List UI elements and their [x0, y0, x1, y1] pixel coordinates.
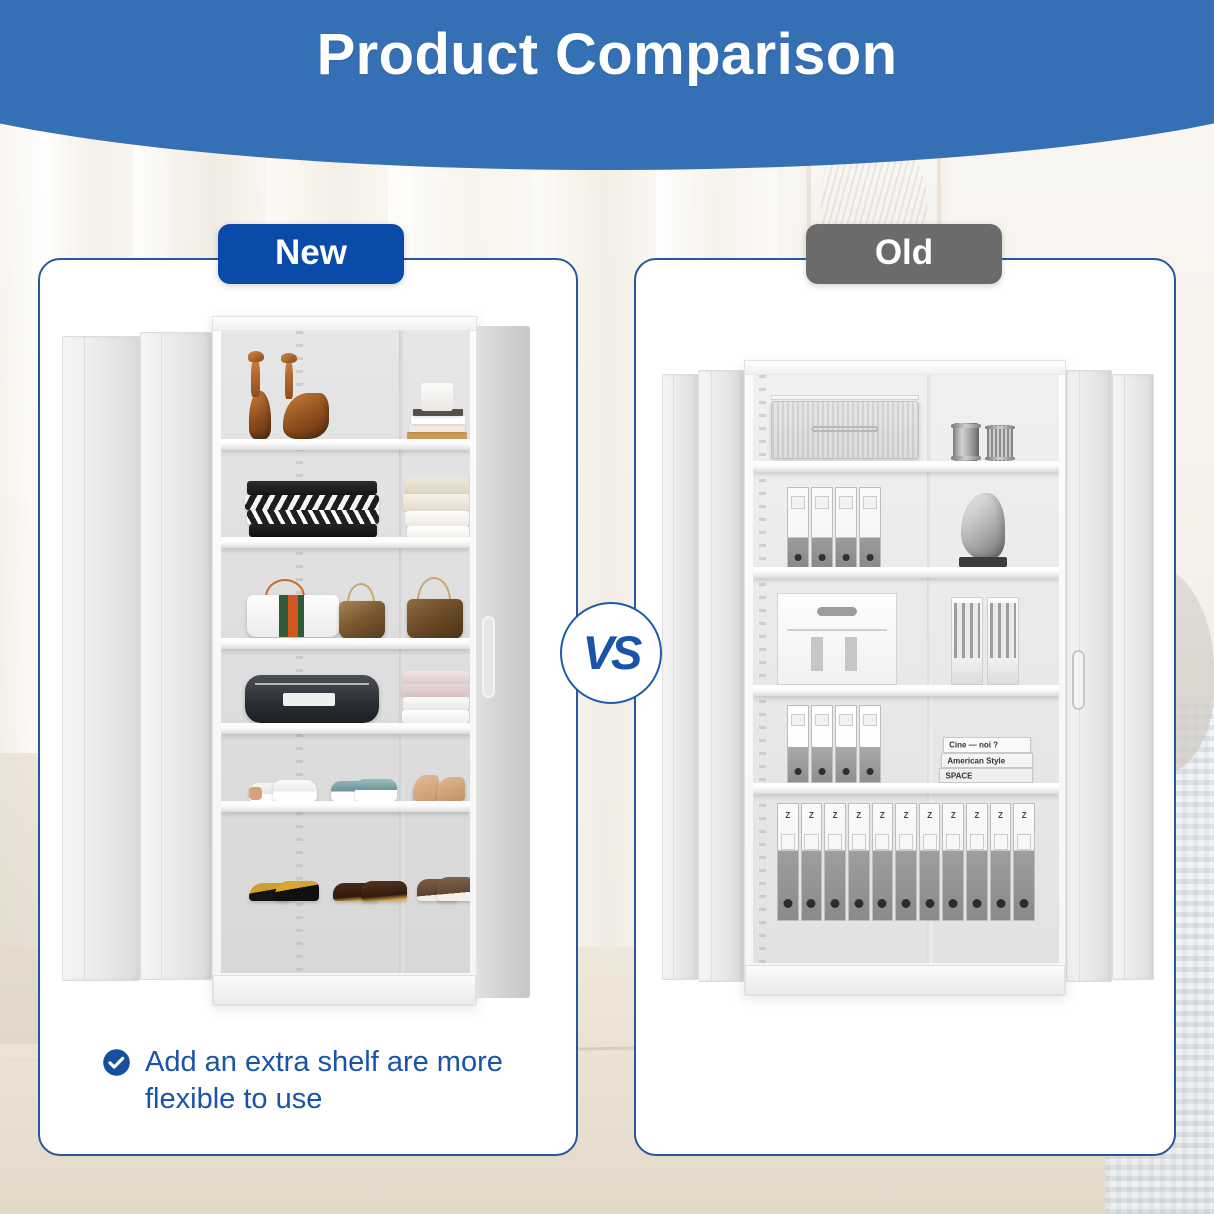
folded-towel-pink	[401, 684, 469, 697]
bottom-binder-row: ZZZZZZZZZZZ	[777, 803, 1035, 921]
binder-label	[791, 496, 806, 509]
lever-arch-binder: Z	[824, 803, 846, 921]
black-gold-flat	[275, 881, 319, 901]
old-shelf-3	[753, 685, 1059, 696]
brown-dress-shoe	[361, 881, 407, 901]
lever-arch-binder: Z	[919, 803, 941, 921]
folded-towel-white	[403, 697, 469, 710]
top-rail	[771, 395, 919, 400]
brown-suede-sneaker	[437, 877, 470, 901]
old-cabinet-door-left-outer	[662, 374, 698, 980]
sculpture-base	[959, 557, 1007, 567]
lever-arch-binder: Z	[848, 803, 870, 921]
binder-ring	[867, 554, 874, 561]
cabinet-door-left-outer	[62, 336, 140, 981]
binder-label	[1017, 834, 1031, 850]
handbag-handle	[347, 583, 375, 603]
comparison-card-old: Cine — noi ? American Style SPACE ZZZZZZ…	[634, 258, 1176, 1156]
shelf-5	[221, 801, 470, 812]
binder-ring	[807, 899, 816, 908]
binder-ring	[1020, 899, 1029, 908]
shelf-1	[221, 439, 470, 450]
monogram-tote	[407, 599, 463, 639]
binder-mark: Z	[904, 811, 909, 820]
binder-ring	[902, 899, 911, 908]
document-header-bar	[817, 607, 857, 616]
duffel-stripe	[279, 595, 288, 637]
binder-ring	[819, 768, 826, 775]
cabinet-base	[213, 975, 476, 1005]
duffel-stripe	[288, 595, 298, 637]
sneaker-heel-tab	[249, 787, 262, 800]
giraffe-figurine-seated-head	[281, 353, 297, 363]
binder-mark: Z	[856, 811, 861, 820]
binder-ring	[972, 899, 981, 908]
binder-label	[815, 496, 830, 509]
wilson-logo	[283, 693, 335, 706]
binder-ring	[795, 554, 802, 561]
lever-arch-binder: Z	[801, 803, 823, 921]
giraffe-figurine-tall	[249, 391, 271, 439]
folded-clothing-pattern	[247, 510, 379, 524]
binder-ring	[878, 899, 887, 908]
design-book: American Style	[941, 753, 1033, 768]
cabinet-top-cap	[213, 317, 476, 331]
check-circle-icon	[102, 1048, 131, 1077]
product-image-old-cabinet: Cine — noi ? American Style SPACE ZZZZZZ…	[662, 360, 1154, 1000]
fabric-storage-bin	[771, 401, 919, 459]
shelf-3	[221, 638, 470, 649]
lever-arch-binder: Z	[872, 803, 894, 921]
lever-arch-binder: Z	[777, 803, 799, 921]
organizer-magazines	[990, 603, 1015, 658]
binder-mark: Z	[927, 811, 932, 820]
binder-label	[839, 714, 854, 726]
vs-badge: VS	[560, 602, 662, 704]
binder-mark: Z	[785, 811, 790, 820]
binder-label	[781, 834, 795, 850]
cabinet-door-handle	[482, 616, 495, 698]
lever-arch-binder: Z	[966, 803, 988, 921]
cabinet-body	[212, 316, 477, 1006]
old-cabinet-interior: Cine — noi ? American Style SPACE ZZZZZZ…	[753, 375, 1059, 963]
binder-label	[815, 714, 830, 726]
binder-ring	[795, 768, 802, 775]
binder-label	[899, 834, 913, 850]
product-image-new-cabinet	[62, 316, 530, 1006]
old-cabinet-door-left-inner	[698, 370, 744, 982]
cabinet-divider	[399, 331, 404, 973]
binder-mark: Z	[809, 811, 814, 820]
document-line	[787, 629, 887, 631]
monogram-handbag	[339, 601, 385, 639]
old-shelf-1	[753, 461, 1059, 472]
binder-ring	[996, 899, 1005, 908]
old-cabinet-door-handle	[1072, 650, 1085, 710]
giraffe-figurine-seated-neck	[285, 359, 293, 399]
lever-arch-binder	[859, 487, 881, 569]
lever-arch-binder	[835, 705, 857, 783]
lever-arch-binder: Z	[990, 803, 1012, 921]
old-shelf-4	[753, 783, 1059, 794]
binder-label	[791, 714, 806, 726]
book-title: American Style	[947, 756, 1005, 765]
wilson-bag-zipper	[255, 683, 369, 685]
folded-clothing-dark	[247, 481, 377, 495]
teal-slipon-sneaker	[355, 779, 397, 801]
lever-arch-binder: Z	[942, 803, 964, 921]
folded-knit-cream	[403, 494, 469, 511]
binder-ring	[843, 554, 850, 561]
binder-mark: Z	[880, 811, 885, 820]
design-book: SPACE	[939, 768, 1033, 783]
binder-ring	[819, 554, 826, 561]
binder-label	[970, 834, 984, 850]
binder-label	[923, 834, 937, 850]
candle-jar	[421, 383, 453, 411]
bin-handle	[811, 426, 878, 433]
document-bar	[811, 637, 823, 671]
binder-label	[828, 834, 842, 850]
metal-canister	[953, 423, 979, 461]
badge-new: New	[218, 224, 404, 284]
lever-arch-binder	[787, 487, 809, 569]
binder-label	[863, 714, 878, 726]
book-title: Cine — noi ?	[949, 741, 998, 750]
binder-mark: Z	[951, 811, 956, 820]
binder-mark: Z	[1022, 811, 1027, 820]
binder-ring	[867, 768, 874, 775]
folded-clothing-dark	[249, 524, 377, 537]
binder-mark: Z	[974, 811, 979, 820]
lever-arch-binder	[835, 487, 857, 569]
folded-clothing-pattern	[245, 495, 379, 510]
lever-arch-binder: Z	[1013, 803, 1035, 921]
binder-ring	[925, 899, 934, 908]
binder-ring	[831, 899, 840, 908]
shelf-2	[221, 537, 470, 548]
old-cabinet-base	[745, 965, 1065, 995]
duffel-stripe	[298, 595, 304, 637]
binder-label	[852, 834, 866, 850]
binder-mark: Z	[833, 811, 838, 820]
binder-label	[804, 834, 818, 850]
binder-label	[946, 834, 960, 850]
binder-ring	[843, 768, 850, 775]
document-bar	[845, 637, 857, 671]
book-stack-item	[407, 432, 467, 439]
feature-caption-text: Add an extra shelf are more flexible to …	[145, 1044, 532, 1117]
giraffe-figurine-tall-head	[248, 351, 264, 362]
shelf-4	[221, 723, 470, 734]
folded-knit-cream	[405, 477, 469, 494]
badge-old: Old	[806, 224, 1002, 284]
binder-label	[839, 496, 854, 509]
design-book: Cine — noi ?	[943, 737, 1031, 753]
folded-knit-white	[405, 511, 469, 526]
giraffe-figurine-tall-neck	[251, 357, 260, 397]
bust-sculpture	[961, 493, 1005, 559]
old-cabinet-body: Cine — noi ? American Style SPACE ZZZZZZ…	[744, 360, 1066, 996]
binder-mark: Z	[998, 811, 1003, 820]
book-title: SPACE	[946, 771, 973, 780]
lever-arch-binder	[811, 487, 833, 569]
folded-towel-white	[402, 710, 469, 723]
binder-ring	[949, 899, 958, 908]
cabinet-interior	[221, 331, 470, 973]
lever-arch-binder	[787, 705, 809, 783]
old-cabinet-top-cap	[745, 361, 1065, 375]
lever-arch-binder	[811, 705, 833, 783]
folded-towel-pink	[403, 671, 469, 684]
binder-label	[863, 496, 878, 509]
file-organizer	[951, 597, 983, 685]
nude-high-heel	[413, 775, 439, 801]
organizer-magazines	[954, 603, 979, 658]
binder-label	[875, 834, 889, 850]
white-platform-sneaker	[273, 780, 317, 801]
feature-caption: Add an extra shelf are more flexible to …	[102, 1044, 532, 1117]
binder-ring	[854, 899, 863, 908]
cabinet-door-left-inner	[140, 332, 212, 980]
binder-label	[994, 834, 1008, 850]
vs-label: VS	[583, 625, 640, 680]
old-shelf-2	[753, 567, 1059, 578]
comparison-card-new: Add an extra shelf are more flexible to …	[38, 258, 578, 1156]
giraffe-figurine-seated	[283, 393, 329, 439]
nude-high-heel	[437, 777, 465, 801]
book-stack-item	[409, 424, 465, 432]
tote-handle	[417, 577, 451, 601]
file-organizer	[987, 597, 1019, 685]
binder-ring	[783, 899, 792, 908]
lever-arch-binder: Z	[895, 803, 917, 921]
book-stack-item	[411, 416, 465, 424]
lever-arch-binder	[859, 705, 881, 783]
old-cabinet-door-right-outer	[1112, 374, 1154, 980]
textured-canister	[987, 425, 1013, 461]
